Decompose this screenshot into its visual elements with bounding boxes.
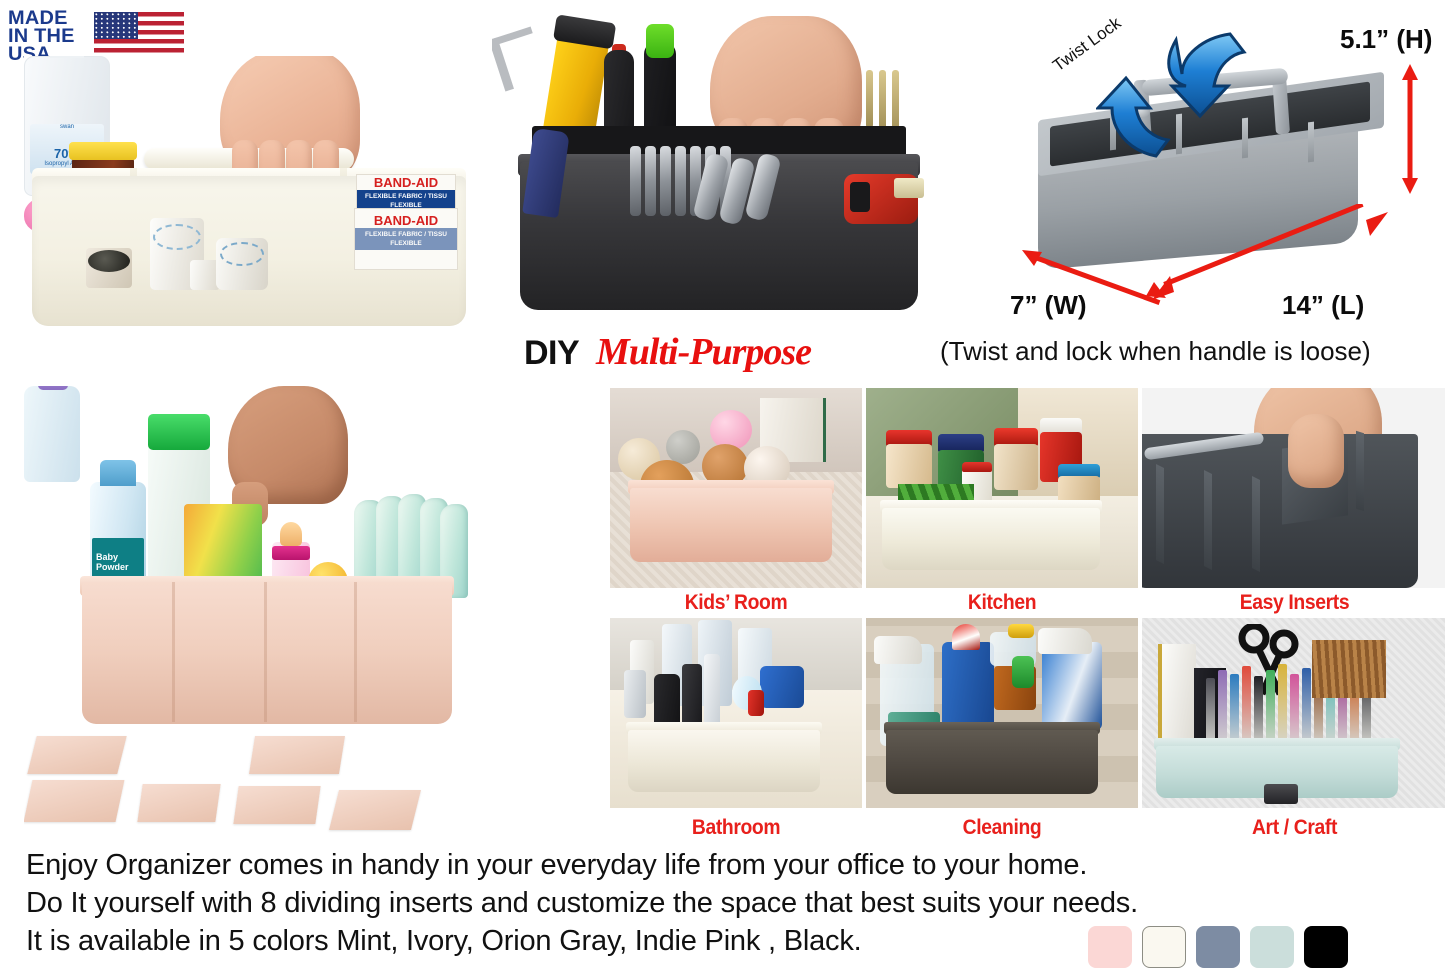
gray-organizer-interior xyxy=(1142,434,1418,588)
jar-lid xyxy=(88,250,130,272)
use-case-art-craft xyxy=(1142,618,1445,808)
divider-insert xyxy=(329,790,421,830)
divider-insert xyxy=(1356,431,1364,512)
soap-dispenser xyxy=(760,666,804,708)
pink-organizer xyxy=(630,488,832,562)
twist-and-lock-note: (Twist and lock when handle is loose) xyxy=(940,336,1371,367)
pink-organizer-body xyxy=(82,582,452,724)
plush-toy xyxy=(666,430,700,464)
flag-canton xyxy=(94,12,138,39)
use-case-easy-inserts xyxy=(1142,388,1445,588)
pump-bottle xyxy=(624,670,646,718)
width-dimension-label: 7” (W) xyxy=(1010,290,1087,321)
use-case-label-easy-inserts: Easy Inserts xyxy=(1154,591,1435,615)
swatch-black[interactable] xyxy=(1304,926,1348,968)
use-case-label-bathroom: Bathroom xyxy=(620,811,852,845)
swatch-orion-gray[interactable] xyxy=(1196,926,1240,968)
use-case-grid: Kids’ Room Kitchen Easy Inserts xyxy=(610,388,1445,836)
use-case-label-kitchen: Kitchen xyxy=(877,591,1127,615)
swatch-mint[interactable] xyxy=(1250,926,1294,968)
use-case-label-kids-room: Kids’ Room xyxy=(620,591,852,615)
use-case-label-art-craft: Art / Craft xyxy=(1154,811,1435,845)
ivory-organizer xyxy=(628,730,820,792)
caption-line-1: Enjoy Organizer comes in handy in your e… xyxy=(26,846,1096,884)
finger xyxy=(1288,414,1344,488)
flashlight-head xyxy=(553,14,616,49)
spice-jar xyxy=(886,444,932,488)
use-case-kitchen xyxy=(866,388,1138,588)
organizer-seam xyxy=(354,582,357,722)
tape-measure xyxy=(844,174,918,224)
diy-banner: DIY Multi-Purpose (Twist and lock when h… xyxy=(0,332,1445,384)
height-dimension-arrow-icon xyxy=(1398,58,1422,200)
dimension-diagram: Twist Lock 5.1” (H) 7” (W) 14” (L) xyxy=(1010,18,1445,338)
divider-insert xyxy=(1242,118,1248,159)
green-grip xyxy=(646,24,674,58)
bottle-nipple xyxy=(280,522,302,546)
electric-razor xyxy=(654,674,680,728)
bandaid-box-lower: BAND-AID FLEXIBLE FABRIC / TISSU FLEXIBL… xyxy=(354,208,458,270)
ivory-organizer-medicine-photo: swan 70% Isopropyl Alcohol Nature Made xyxy=(24,56,484,326)
gray-organizer xyxy=(886,730,1098,794)
cvs-baby-powder-bottle: Baby Powder xyxy=(90,482,146,586)
bottle-ring xyxy=(272,546,310,560)
usa-flag-icon xyxy=(94,12,184,62)
swatch-ivory[interactable] xyxy=(1142,926,1186,968)
white-cream-jar xyxy=(216,238,268,290)
travel-item xyxy=(748,690,764,716)
diy-text: DIY xyxy=(524,334,579,373)
divider-insert xyxy=(249,736,345,774)
swatch-indie-pink[interactable] xyxy=(1088,926,1132,968)
bandaid-brand-lower: BAND-AID xyxy=(355,213,457,228)
divider-insert xyxy=(1204,470,1212,570)
clorox-bottle xyxy=(942,642,994,728)
organizer-seam xyxy=(172,582,175,722)
caption-line-3: It is available in 5 colors Mint, Ivory,… xyxy=(26,922,1096,960)
product-description: Enjoy Organizer comes in handy in your e… xyxy=(26,846,1096,960)
divider-insert xyxy=(24,780,124,822)
caption-line-2: Do It yourself with 8 dividing inserts a… xyxy=(26,884,1096,922)
ivory-organizer xyxy=(882,508,1100,570)
spray-trigger xyxy=(874,636,922,664)
clorox-spray-bottle xyxy=(1042,642,1102,730)
height-dimension-label: 5.1” (H) xyxy=(1340,24,1432,55)
twist-rotation-arrow-icon xyxy=(1160,30,1248,120)
length-dimension-label: 14” (L) xyxy=(1282,290,1364,321)
loose-divider-inserts xyxy=(28,734,488,832)
pink-organizer-baby-photo: Baby Powder xyxy=(24,386,594,836)
spiral-sketchbook xyxy=(1158,644,1196,748)
product-infographic: MADE IN THE USA swan 70% Isopropyl Alcoh… xyxy=(0,0,1445,973)
organizer-seam xyxy=(264,582,267,722)
tape-blade xyxy=(894,178,924,198)
use-case-bathroom xyxy=(610,618,862,808)
bottle-neck xyxy=(50,56,84,58)
bandaid-sub-lower: FLEXIBLE FABRIC / TISSU FLEXIBLE xyxy=(355,228,457,250)
bottle-top-ring xyxy=(153,224,201,250)
caliper-tool xyxy=(492,27,547,92)
spice-jar xyxy=(994,444,1038,490)
clear-lotion-bottle xyxy=(24,386,80,482)
color-swatch-row xyxy=(1088,926,1348,968)
use-case-label-cleaning: Cleaning xyxy=(877,811,1127,845)
jar-top-ring xyxy=(220,242,264,266)
handle-latch xyxy=(1264,784,1298,804)
divider-insert xyxy=(233,786,320,824)
use-case-kids-room xyxy=(610,388,862,588)
divider-insert xyxy=(1308,122,1314,163)
spray-trigger xyxy=(1038,628,1092,654)
divider-insert xyxy=(1156,464,1164,564)
shaker-lid xyxy=(962,462,992,472)
divider-insert xyxy=(137,784,220,822)
black-organizer-tools-photo xyxy=(492,14,962,326)
multi-purpose-text: Multi-Purpose xyxy=(596,330,811,374)
divider-insert xyxy=(1252,476,1260,572)
twist-lock-label: Twist Lock xyxy=(1049,13,1125,76)
wrench-set xyxy=(700,154,792,222)
yellow-cap xyxy=(69,142,137,160)
swan-brand-text: swan xyxy=(30,124,104,130)
colored-pencils xyxy=(1312,640,1386,698)
bottle-cap-red xyxy=(952,624,980,650)
green-pump xyxy=(1012,656,1034,688)
divider-insert xyxy=(27,736,126,774)
use-case-cleaning xyxy=(866,618,1138,808)
yellow-cap xyxy=(1008,624,1034,638)
cosmetic-jar xyxy=(86,248,132,288)
tape-body-accent xyxy=(850,182,870,212)
purple-cap xyxy=(38,386,68,390)
powder-cap xyxy=(100,460,136,486)
bandaid-brand-upper: BAND-AID xyxy=(357,175,455,190)
green-cap xyxy=(148,414,210,450)
